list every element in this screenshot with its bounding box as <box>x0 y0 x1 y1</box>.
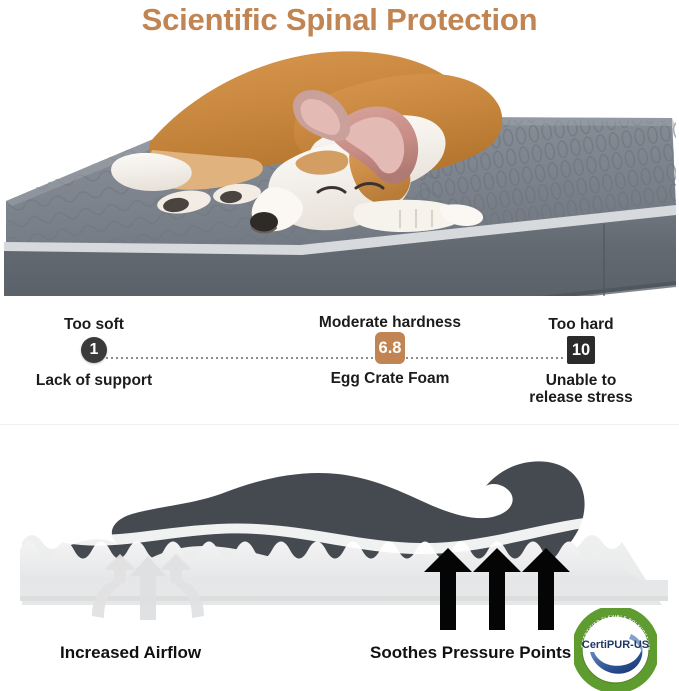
scale-soft-badge: 1 <box>81 337 107 363</box>
certipur-brand-text: CertiPUR-US <box>582 639 649 651</box>
scale-soft-badge-row: 1 <box>10 333 178 367</box>
scale-hard-badge: 10 <box>567 336 595 364</box>
hardness-scale: Too soft 1 Lack of support Moderate hard… <box>0 312 679 420</box>
scale-soft-top-label: Too soft <box>10 316 178 333</box>
scale-hard-bottom-label-1: Unable to <box>506 372 656 389</box>
scale-hard-top-label: Too hard <box>506 316 656 333</box>
scale-stop-soft: Too soft 1 Lack of support <box>10 316 178 389</box>
pressure-points-label: Soothes Pressure Points <box>370 643 571 663</box>
infographic-page: Scientific Spinal Protection <box>0 0 679 691</box>
certipur-seal-icon: CONTAINS CERTIFIED FLEXIBLE POLYURETHANE… <box>574 608 657 691</box>
section-divider <box>0 424 679 425</box>
page-title: Scientific Spinal Protection <box>0 2 679 38</box>
scale-stop-hard: Too hard 10 Unable to release stress <box>506 316 656 406</box>
dog-on-bed-illustration <box>0 46 679 296</box>
scale-moderate-top-label: Moderate hardness <box>295 314 485 331</box>
scale-moderate-badge: 6.8 <box>375 332 405 364</box>
hero-product-photo <box>0 46 679 296</box>
egg-crate-foam-illustration <box>0 430 679 630</box>
certipur-us-logo: CONTAINS CERTIFIED FLEXIBLE POLYURETHANE… <box>574 608 657 691</box>
airflow-label: Increased Airflow <box>60 643 201 663</box>
foam-support-diagram <box>0 430 679 630</box>
scale-soft-bottom-label: Lack of support <box>10 372 178 389</box>
scale-hard-bottom-label-2: release stress <box>506 389 656 406</box>
scale-moderate-bottom-label: Egg Crate Foam <box>295 370 485 387</box>
scale-moderate-badge-row: 6.8 <box>295 331 485 365</box>
pressure-point-arrows <box>424 548 570 630</box>
scale-stop-moderate: Moderate hardness 6.8 Egg Crate Foam <box>295 314 485 387</box>
title-bar: Scientific Spinal Protection <box>0 2 679 38</box>
scale-hard-badge-row: 10 <box>506 333 656 367</box>
